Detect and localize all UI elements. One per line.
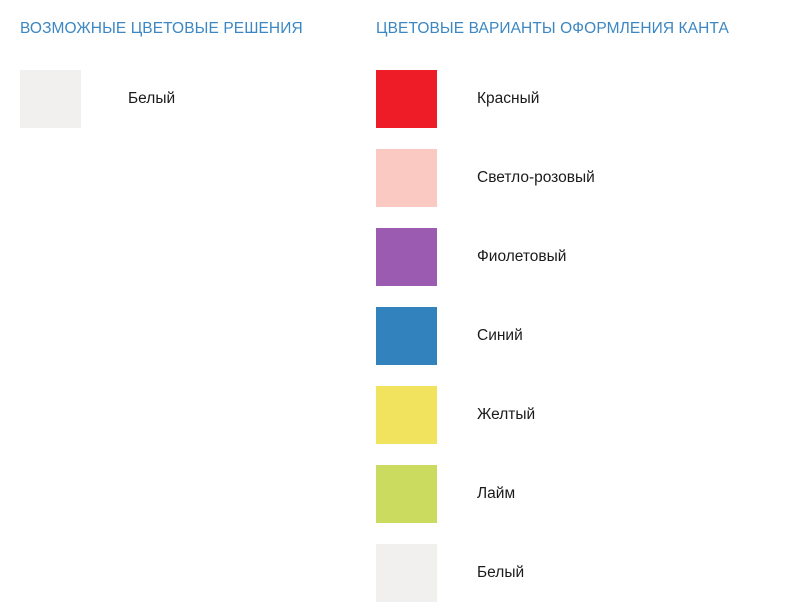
swatch-row[interactable]: Лайм: [370, 454, 800, 533]
swatch-row[interactable]: Синий: [370, 296, 800, 375]
color-swatch-lime[interactable]: [376, 465, 437, 523]
column-edging-color-variants: ЦВЕТОВЫЕ ВАРИАНТЫ ОФОРМЛЕНИЯ КАНТА Красн…: [370, 0, 800, 612]
swatch-row[interactable]: Светло-розовый: [370, 138, 800, 217]
color-swatch-violet[interactable]: [376, 228, 437, 286]
swatch-label: Желтый: [477, 406, 535, 424]
swatch-label: Красный: [477, 90, 539, 108]
color-options-page: ВОЗМОЖНЫЕ ЦВЕТОВЫЕ РЕШЕНИЯ Белый ЦВЕТОВЫ…: [0, 0, 800, 600]
color-swatch-blue[interactable]: [376, 307, 437, 365]
swatch-label: Светло-розовый: [477, 169, 595, 187]
swatch-label: Белый: [128, 90, 175, 108]
column-possible-color-solutions: ВОЗМОЖНЫЕ ЦВЕТОВЫЕ РЕШЕНИЯ Белый: [0, 0, 370, 138]
swatch-label: Белый: [477, 564, 524, 582]
column-header-edging-color-variants: ЦВЕТОВЫЕ ВАРИАНТЫ ОФОРМЛЕНИЯ КАНТА: [376, 20, 800, 38]
color-swatch-red[interactable]: [376, 70, 437, 128]
swatch-list-possible-color-solutions: Белый: [0, 59, 370, 138]
color-swatch-white[interactable]: [376, 544, 437, 602]
swatch-row[interactable]: Красный: [370, 59, 800, 138]
color-swatch-yellow[interactable]: [376, 386, 437, 444]
swatch-label: Лайм: [477, 485, 515, 503]
swatch-row[interactable]: Фиолетовый: [370, 217, 800, 296]
column-header-possible-color-solutions: ВОЗМОЖНЫЕ ЦВЕТОВЫЕ РЕШЕНИЯ: [20, 20, 370, 38]
color-swatch-light-pink[interactable]: [376, 149, 437, 207]
color-swatch-white[interactable]: [20, 70, 81, 128]
swatch-list-edging-color-variants: Красный Светло-розовый Фиолетовый Синий …: [370, 59, 800, 612]
swatch-label: Синий: [477, 327, 523, 345]
swatch-label: Фиолетовый: [477, 248, 566, 266]
swatch-row[interactable]: Белый: [370, 533, 800, 612]
swatch-row[interactable]: Белый: [0, 59, 370, 138]
swatch-row[interactable]: Желтый: [370, 375, 800, 454]
